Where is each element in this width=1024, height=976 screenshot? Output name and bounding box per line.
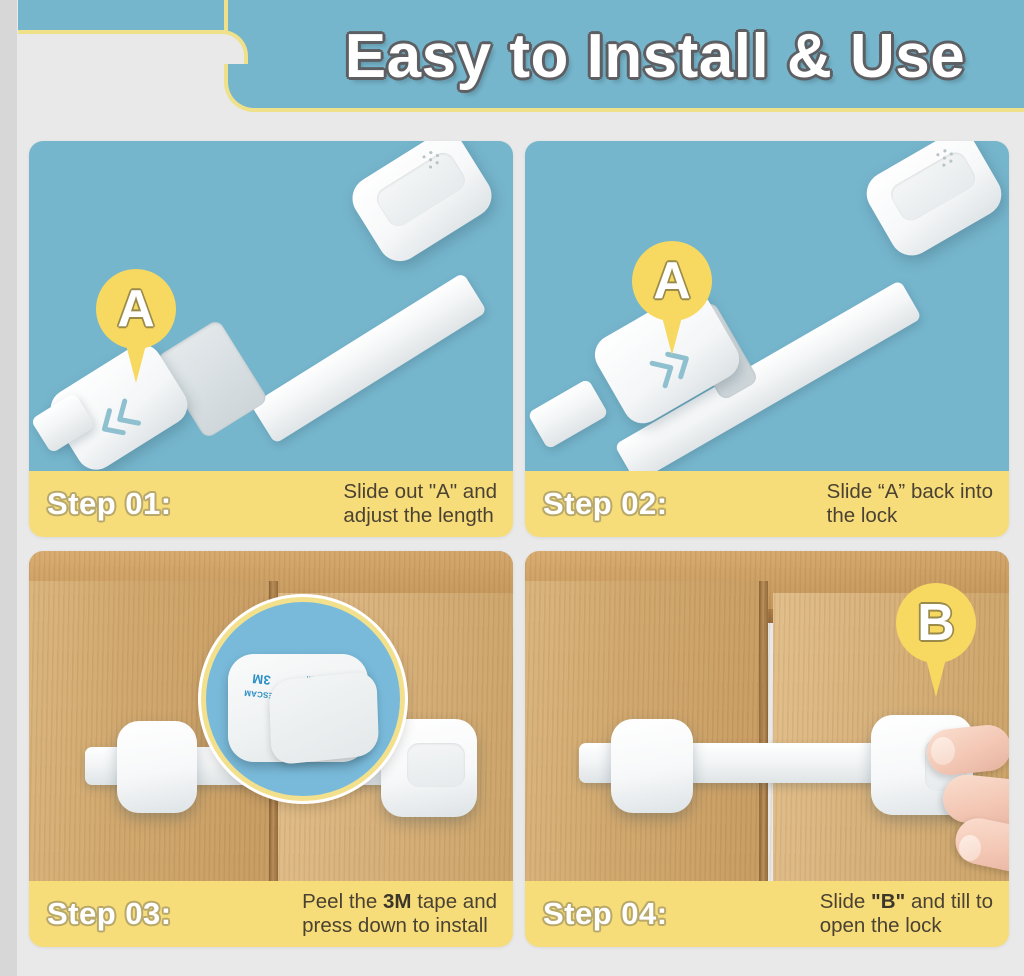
installed-pad-left [611,719,693,813]
header-banner: Easy to Install & Use [18,0,1024,116]
step-03-desc-bold: 3M [383,890,411,913]
tape-brand-label: 3M [251,671,271,688]
step-03-caption: Step 03: Peel the 3M tape and press down… [29,881,513,947]
page-left-gutter [0,0,17,976]
step-card-01: A Step 01: Slide out "A" and adjust the … [29,141,513,537]
middle-finger-nail [959,835,981,861]
callout-a: A [632,241,712,321]
step-03-desc-prefix: Peel the [302,890,383,913]
inset-3m-tape-detail: 3M RESCAM 3M RESCAM [201,597,405,801]
cabinet-scene: B [525,551,1009,881]
step-02-label: Step 02: [543,486,668,522]
strap-lock-retracted: A [525,141,1009,471]
header-banner-step-left [18,0,258,34]
step-04-description: Slide "B" and till to open the lock [820,890,993,938]
callout-a-label: A [117,283,155,335]
step-04-illustration: B [525,551,1009,881]
chevron-double-left-icon [90,393,147,446]
lock-buckle [344,141,500,269]
step-04-desc-bold: "B" [871,890,905,913]
step-card-02: A Step 02: Slide “A” back into the lock [525,141,1009,537]
strap-lock-extended: A [29,141,513,471]
callout-b: B [896,583,976,663]
step-04-caption: Step 04: Slide "B" and till to open the … [525,881,1009,947]
step-03-label: Step 03: [47,896,172,932]
step-04-desc-prefix: Slide [820,890,871,913]
step-03-description: Peel the 3M tape and press down to insta… [302,890,497,938]
installed-pad-left [117,721,197,813]
step-card-03: 3M RESCAM 3M RESCAM Step 03: Peel the 3M… [29,551,513,947]
step-01-caption: Step 01: Slide out "A" and adjust the le… [29,471,513,537]
adhesive-liner-peeling [269,670,379,765]
step-card-04: B Step 04: Slide "B" and till to open th… [525,551,1009,947]
thumb-nail [931,737,955,765]
step-01-illustration: A [29,141,513,471]
lock-strap [251,272,487,443]
page-title: Easy to Install & Use [268,10,1024,102]
lock-strap-tail [527,378,609,449]
lock-buckle-button [887,148,980,225]
callout-b-label: B [917,597,955,649]
lock-buckle [859,141,1009,263]
step-02-description: Slide “A” back into the lock [827,480,993,528]
step-02-caption: Step 02: Slide “A” back into the lock [525,471,1009,537]
installed-buckle-button [407,743,465,787]
step-03-illustration: 3M RESCAM 3M RESCAM [29,551,513,881]
callout-a: A [96,269,176,349]
step-01-description: Slide out "A" and adjust the length [343,480,497,528]
infographic-page: Easy to Install & Use [0,0,1024,976]
steps-grid: A Step 01: Slide out "A" and adjust the … [29,141,1009,947]
cabinet-door-gap [759,581,768,881]
hand-illustration [917,701,1009,881]
cabinet-scene: 3M RESCAM 3M RESCAM [29,551,513,881]
callout-a-label: A [653,255,691,307]
step-01-label: Step 01: [47,486,172,522]
step-04-label: Step 04: [543,896,668,932]
step-02-illustration: A [525,141,1009,471]
